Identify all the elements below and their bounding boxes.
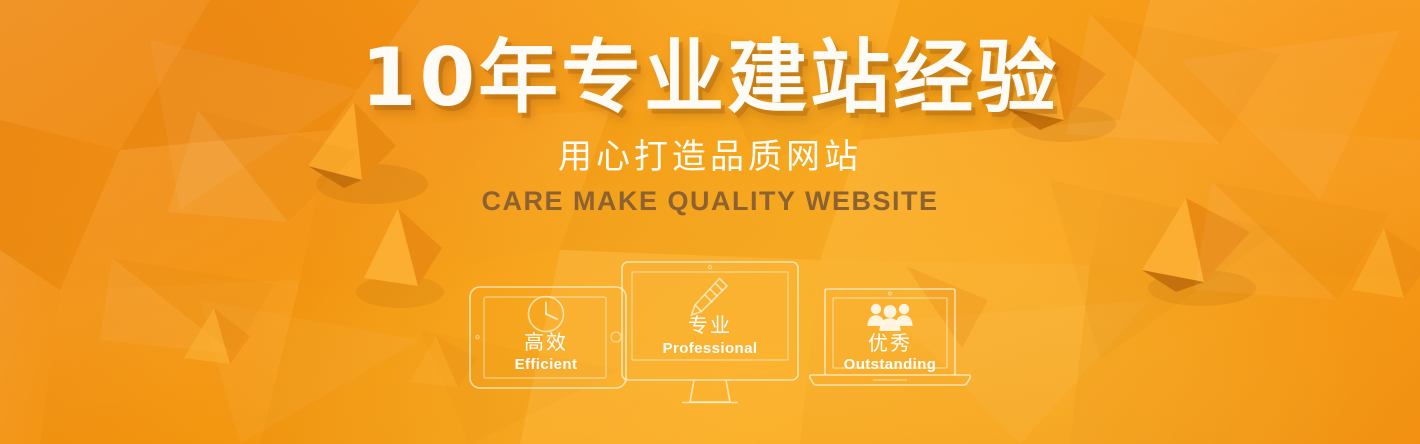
banner-content: 10年专业建站经验 用心打造品质网站 CARE MAKE QUALITY WEB… xyxy=(0,0,1420,444)
subtitle-chinese: 用心打造品质网站 xyxy=(558,140,862,174)
promo-banner: 10年专业建站经验 用心打造品质网站 CARE MAKE QUALITY WEB… xyxy=(0,0,1420,444)
page-title: 10年专业建站经验 xyxy=(361,38,1059,118)
subtitle-english: CARE MAKE QUALITY WEBSITE xyxy=(481,188,938,215)
